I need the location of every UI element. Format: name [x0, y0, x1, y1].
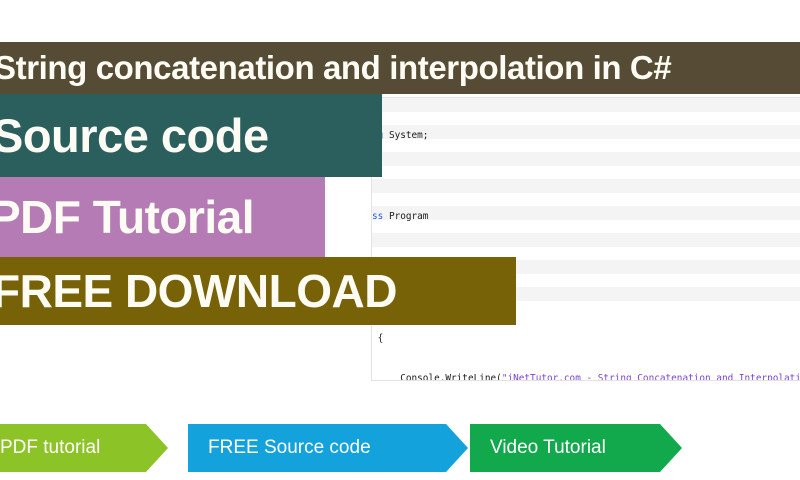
caption-band-source-code: Source code [0, 94, 382, 177]
caption-band-pdf-tutorial: PDF Tutorial [0, 177, 325, 257]
banner-title-text: String concatenation and interpolation i… [0, 49, 671, 87]
code-editor-panel: 08. 09. 10. 11. 12. 13. 14. 15. 16. ng S… [372, 98, 800, 380]
code-line: { [372, 332, 800, 346]
code-line [372, 170, 800, 184]
banner-title-band: String concatenation and interpolation i… [0, 42, 800, 94]
caption-label-source-code: Source code [0, 108, 269, 163]
cta-video-tutorial[interactable]: Video Tutorial [470, 424, 682, 472]
caption-label-free-download: FREE DOWNLOAD [0, 264, 397, 318]
caption-band-free-download: FREE DOWNLOAD [0, 257, 516, 325]
code-line: ng System; [372, 129, 800, 143]
cta-free-source-code[interactable]: FREE Source code [188, 424, 468, 472]
cta-chevron-bar: PDF tutorial FREE Source code Video Tuto… [0, 424, 800, 472]
cta-pdf-tutorial[interactable]: PDF tutorial [0, 424, 168, 472]
code-text-area[interactable]: ng System; ss Program static void Main()… [372, 102, 800, 380]
cta-label-pdf-tutorial: PDF tutorial [0, 437, 100, 459]
code-line: Console.WriteLine("iNetTutor.com - Strin… [372, 372, 800, 380]
cta-label-free-source-code: FREE Source code [188, 437, 371, 459]
code-line: ss Program [372, 210, 800, 224]
cta-label-video-tutorial: Video Tutorial [470, 437, 606, 459]
caption-label-pdf-tutorial: PDF Tutorial [0, 190, 254, 244]
